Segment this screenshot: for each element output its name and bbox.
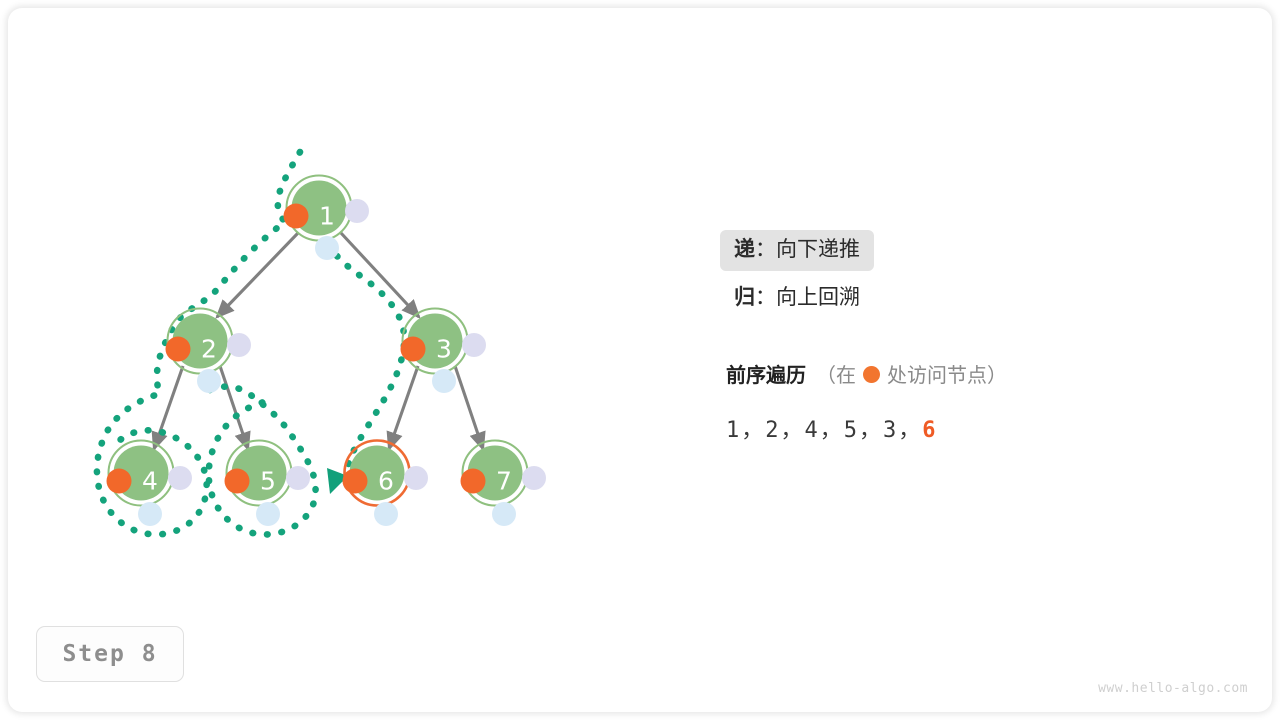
node-4-label: 4 [142,467,158,496]
edge-3-6 [389,366,418,449]
pre-order-marker-dot-icon [863,366,880,383]
node-1-pre-dot [284,204,309,229]
node-3-pre-dot [401,337,426,362]
recursion-backtrack-sep: ： [755,285,776,309]
traversal-order-title: 前序遍历 [726,359,806,388]
recursion-descend-line: 递：向下递推 [726,230,1196,271]
tree-node-5[interactable]: 5 [225,441,311,527]
node-4-pre-dot [107,469,132,494]
node-7-post-dot [522,466,546,490]
tree-node-7[interactable]: 7 [461,441,547,527]
node-2-pre-dot [166,337,191,362]
figure-card: 1 2 3 4 [8,8,1272,712]
node-4-in-dot [138,502,162,526]
explanation-panel: 递：向下递推 归：向上回溯 前序遍历 （在 处访问节点） 1，2，4，5，3，6 [726,230,1196,444]
node-2-in-dot [197,369,221,393]
node-7-in-dot [492,502,516,526]
traversal-order-paren-open: （在 [816,359,856,388]
edge-2-5 [220,366,248,449]
edge-1-2 [217,233,298,317]
tree-node-4[interactable]: 4 [107,441,193,527]
traversal-sequence: 1，2，4，5，3，6 [726,412,1196,444]
recursion-backtrack-label: 归：向上回溯 [720,278,874,319]
node-3-in-dot [432,369,456,393]
recursion-backtrack-line: 归：向上回溯 [726,271,1196,319]
node-6-post-dot [404,466,428,490]
node-5-post-dot [286,466,310,490]
traversal-order-heading: 前序遍历 （在 处访问节点） [726,359,1196,388]
traversal-sequence-current: 6 [922,418,937,443]
node-2-label: 2 [201,335,217,364]
edge-1-3 [341,233,419,317]
node-6-pre-dot [343,469,368,494]
node-1-label: 1 [319,202,335,231]
node-6-label: 6 [378,467,394,496]
edge-3-7 [455,366,483,449]
node-7-label: 7 [496,467,512,496]
node-5-in-dot [256,502,280,526]
traversal-sequence-prefix: 1，2，4，5，3， [726,418,922,443]
traversal-order-paren-close: 处访问节点） [887,359,1007,388]
node-6-in-dot [374,502,398,526]
recursion-descend-key: 递 [734,237,755,261]
recursion-backtrack-key: 归 [734,285,755,309]
recursion-backtrack-text: 向上回溯 [776,285,860,309]
recursion-descend-text: 向下递推 [776,237,860,261]
node-1-post-dot [345,199,369,223]
node-3-post-dot [462,333,486,357]
node-5-label: 5 [260,467,276,496]
node-3-label: 3 [436,335,452,364]
node-2-post-dot [227,333,251,357]
watermark: www.hello-algo.com [1098,681,1248,696]
node-5-pre-dot [225,469,250,494]
node-4-post-dot [168,466,192,490]
step-badge: Step 8 [36,626,184,682]
node-7-pre-dot [461,469,486,494]
recursion-descend-sep: ： [755,237,776,261]
node-1-in-dot [315,236,339,260]
recursion-descend-label: 递：向下递推 [720,230,874,271]
